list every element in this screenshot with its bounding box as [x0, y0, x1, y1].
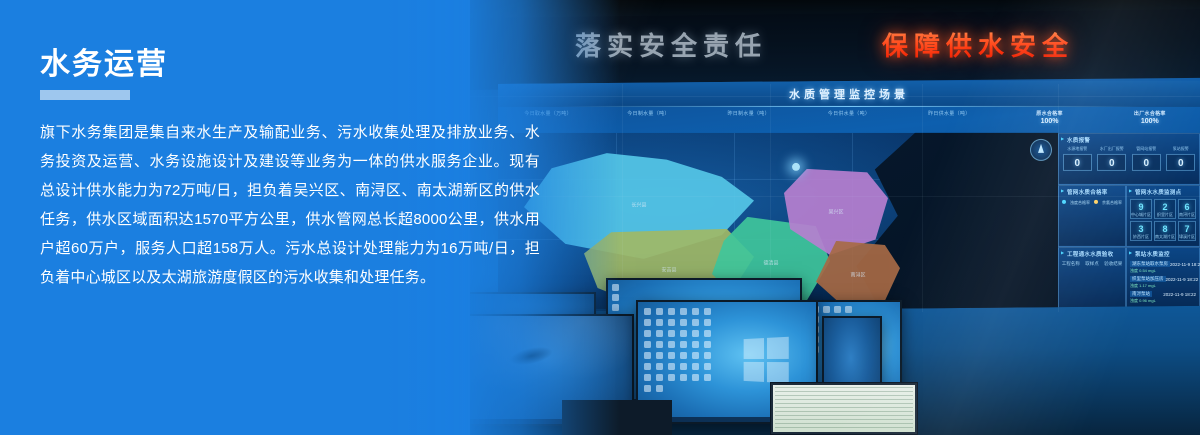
compass-icon — [1030, 139, 1052, 161]
kpi-item: 泵站报警 0 — [1165, 146, 1198, 171]
point-value: 8 — [1155, 224, 1175, 234]
map-region-label: 吴兴区 — [828, 208, 843, 215]
map-marker-glow — [792, 163, 800, 171]
desktop-icon-grid[interactable] — [644, 308, 711, 392]
desktop-icon[interactable] — [668, 352, 675, 359]
kpi-label: 水源地报警 — [1061, 146, 1094, 152]
page-title: 水务运营 — [40, 48, 560, 81]
kpi-value: 0 — [1097, 154, 1126, 171]
desktop-icon[interactable] — [692, 363, 699, 370]
point-value: 7 — [1179, 224, 1195, 234]
desktop-icon[interactable] — [668, 319, 675, 326]
stat-label: 昨日供水量（吨） — [899, 110, 999, 117]
desktop-icon[interactable] — [692, 374, 699, 381]
point-value: 3 — [1131, 224, 1151, 234]
windows-logo-icon — [743, 337, 788, 383]
map-region-label: 德清县 — [763, 259, 778, 266]
point-label: 中心城片区 — [1131, 212, 1151, 218]
station-time: 2022-11-9 18:22 — [1166, 276, 1199, 281]
desktop-icon[interactable] — [644, 363, 651, 370]
column-header: 工程名称 — [1062, 261, 1080, 267]
desktop-icon[interactable] — [668, 308, 675, 315]
panel-title: 泵站水质监控 — [1127, 248, 1199, 258]
stat-item: 昨日供水量（吨） — [899, 107, 999, 133]
laptop-screen — [773, 385, 915, 432]
point-label: 南太湖片区 — [1155, 234, 1175, 240]
laptop-spreadsheet[interactable] — [770, 382, 918, 435]
stat-item: 出厂水合格率 100% — [1100, 107, 1200, 133]
panel-title: 工程通水水质验收 — [1059, 248, 1125, 258]
panel-monitoring-points[interactable]: 管网水水质监测点 9 中心城片区 2 织里片区 6 南浔片区 3 — [1126, 185, 1200, 247]
point-label: 妙西片区 — [1131, 234, 1151, 240]
point-cell[interactable]: 8 南太湖片区 — [1154, 221, 1176, 241]
desktop-icon[interactable] — [656, 330, 663, 337]
station-name: 湖东泵站取水泵房 — [1130, 261, 1170, 267]
station-time: 2022-11-9 18:22 — [1163, 291, 1196, 296]
station-reading: 浊度 1.17 mgL — [1127, 283, 1199, 290]
point-label: 织里片区 — [1155, 212, 1175, 218]
panel-title: 水质报警 — [1059, 134, 1199, 144]
kpi-label: 泵站报警 — [1165, 146, 1198, 152]
station-reading: 浊度 0.96 mgL — [1127, 298, 1199, 305]
desktop-icon[interactable] — [704, 308, 711, 315]
text-block: 水务运营 旗下水务集团是集自来水生产及输配业务、污水收集处理及排放业务、水务投资… — [40, 48, 560, 292]
point-label: 埭溪片区 — [1179, 234, 1195, 240]
desktop-icon[interactable] — [656, 308, 663, 315]
stat-label: 出厂水合格率 — [1100, 110, 1200, 117]
desktop-icon[interactable] — [680, 363, 687, 370]
desktop-icon[interactable] — [692, 341, 699, 348]
desktop-icon[interactable] — [656, 352, 663, 359]
panel-network-quality-rate[interactable]: 管网水质合格率 浊度合格率 余氯合格率 — [1058, 185, 1126, 247]
desktop-icon[interactable] — [668, 330, 675, 337]
desktop-icon[interactable] — [680, 352, 687, 359]
point-cell[interactable]: 7 埭溪片区 — [1178, 221, 1196, 241]
point-value: 6 — [1179, 202, 1195, 212]
chart-legend: 浊度合格率 余氯合格率 — [1059, 196, 1125, 206]
desktop-icon[interactable] — [644, 352, 651, 359]
kpi-label: 水厂出厂报警 — [1096, 146, 1129, 152]
legend-label: 浊度合格率 — [1070, 200, 1090, 206]
desktop-icon[interactable] — [644, 308, 651, 315]
kpi-value: 0 — [1063, 154, 1092, 171]
legend-label: 余氯合格率 — [1102, 200, 1122, 206]
stat-item: 原水合格率 100% — [999, 107, 1099, 133]
station-name: 织里泵站加压房 — [1130, 276, 1166, 282]
desktop-icon[interactable] — [704, 374, 711, 381]
map-region-label: 安吉县 — [661, 266, 676, 273]
desktop-icon[interactable] — [680, 341, 687, 348]
desktop-icon[interactable] — [656, 385, 663, 392]
desktop-icon[interactable] — [704, 352, 711, 359]
desktop-icon[interactable] — [692, 330, 699, 337]
point-cell[interactable]: 9 中心城片区 — [1130, 199, 1152, 219]
point-value: 2 — [1155, 202, 1175, 212]
desktop-icon[interactable] — [644, 341, 651, 348]
panel-title: 管网水水质监测点 — [1127, 186, 1199, 196]
stat-item: 今日供水量（吨） — [799, 107, 899, 133]
desktop-icon[interactable] — [680, 330, 687, 337]
desktop-icon[interactable] — [680, 308, 687, 315]
map-region-label: 南浔区 — [850, 271, 865, 278]
point-cell[interactable]: 6 南浔片区 — [1178, 199, 1196, 219]
wall-seam — [1058, 84, 1059, 312]
station-time: 2022-11-9 18:22 — [1170, 261, 1200, 266]
panel-pump-station-quality[interactable]: 泵站水质监控 湖东泵站取水泵房 2022-11-9 18:22 浊度 0.54 … — [1126, 247, 1200, 309]
dashboard-title: 水质管理监控场景 — [789, 86, 909, 102]
desktop-icon[interactable] — [692, 319, 699, 326]
desktop-icon[interactable] — [680, 319, 687, 326]
desktop-icon[interactable] — [656, 319, 663, 326]
wall-seam — [922, 84, 923, 312]
desktop-icon[interactable] — [680, 374, 687, 381]
desktop-icon[interactable] — [704, 341, 711, 348]
column-header: 取样点 — [1085, 261, 1099, 267]
panel-title: 管网水质合格率 — [1059, 186, 1125, 196]
desktop-icon[interactable] — [845, 306, 852, 313]
water-operations-banner: 落实安全责任 保障供水安全 水质管理监控场景 今日取水量（万吨） 今日制水量（吨… — [0, 0, 1200, 435]
title-underline-rule — [40, 90, 130, 100]
desktop-icon[interactable] — [823, 306, 830, 313]
desktop-icon[interactable] — [668, 341, 675, 348]
station-log-list: 湖东泵站取水泵房 2022-11-9 18:22 浊度 0.54 mgL 织里泵… — [1127, 258, 1199, 305]
station-log-row: 南浔泵站 2022-11-9 18:22 — [1127, 290, 1199, 298]
point-cell[interactable]: 2 织里片区 — [1154, 199, 1176, 219]
desktop-icon[interactable] — [668, 374, 675, 381]
stat-item: 昨日制水量（吨） — [699, 107, 799, 133]
stat-value: 100% — [999, 118, 1099, 125]
desktop-icon[interactable] — [704, 330, 711, 337]
desktop-icon[interactable] — [644, 330, 651, 337]
point-label: 南浔片区 — [1179, 212, 1195, 218]
stat-label: 昨日制水量（吨） — [699, 110, 799, 117]
point-cell[interactable]: 3 妙西片区 — [1130, 221, 1152, 241]
station-reading: 浊度 0.54 mgL — [1127, 268, 1199, 275]
kpi-item: 管网站报警 0 — [1130, 146, 1163, 171]
desktop-icon[interactable] — [644, 319, 651, 326]
station-log-row: 湖东泵站取水泵房 2022-11-9 18:22 — [1127, 260, 1199, 268]
desktop-icon[interactable] — [656, 363, 663, 370]
panel-water-quality-alarm[interactable]: 水质报警 水源地报警 0 水厂出厂报警 0 管网站报警 0 泵站报警 — [1058, 133, 1200, 185]
station-name: 南浔泵站 — [1130, 291, 1152, 297]
desktop-icon[interactable] — [644, 385, 651, 392]
kpi-item: 水厂出厂报警 0 — [1096, 146, 1129, 171]
point-value: 9 — [1131, 202, 1151, 212]
kpi-value: 0 — [1132, 154, 1161, 171]
table-header-row: 工程名称 取样点 验收结果 — [1059, 258, 1125, 267]
desktop-icon[interactable] — [656, 341, 663, 348]
kpi-value: 0 — [1166, 154, 1195, 171]
kpi-item: 水源地报警 0 — [1061, 146, 1094, 171]
column-header: 验收结果 — [1104, 261, 1122, 267]
desktop-icon[interactable] — [704, 319, 711, 326]
desktop-icon[interactable] — [834, 306, 841, 313]
stat-label: 今日供水量（吨） — [799, 110, 899, 117]
stat-value: 100% — [1100, 118, 1200, 125]
desktop-icon[interactable] — [668, 363, 675, 370]
stat-label: 原水合格率 — [999, 110, 1099, 117]
slogan-right-text: 保障供水安全 — [882, 26, 1074, 63]
panel-project-acceptance[interactable]: 工程通水水质验收 工程名称 取样点 验收结果 — [1058, 247, 1126, 309]
kpi-label: 管网站报警 — [1130, 146, 1163, 152]
map-region-label: 长兴县 — [631, 201, 646, 208]
desktop-icon[interactable] — [644, 374, 651, 381]
description-paragraph: 旗下水务集团是集自来水生产及输配业务、污水收集处理及排放业务、水务投资及运营、水… — [40, 118, 540, 292]
station-log-row: 织里泵站加压房 2022-11-9 18:22 — [1127, 275, 1199, 283]
desktop-icon[interactable] — [656, 374, 663, 381]
desktop-icon[interactable] — [692, 308, 699, 315]
desktop-icon[interactable] — [692, 352, 699, 359]
desktop-icon[interactable] — [704, 363, 711, 370]
dashboard-side-panels: 水质报警 水源地报警 0 水厂出厂报警 0 管网站报警 0 泵站报警 — [1058, 133, 1200, 309]
